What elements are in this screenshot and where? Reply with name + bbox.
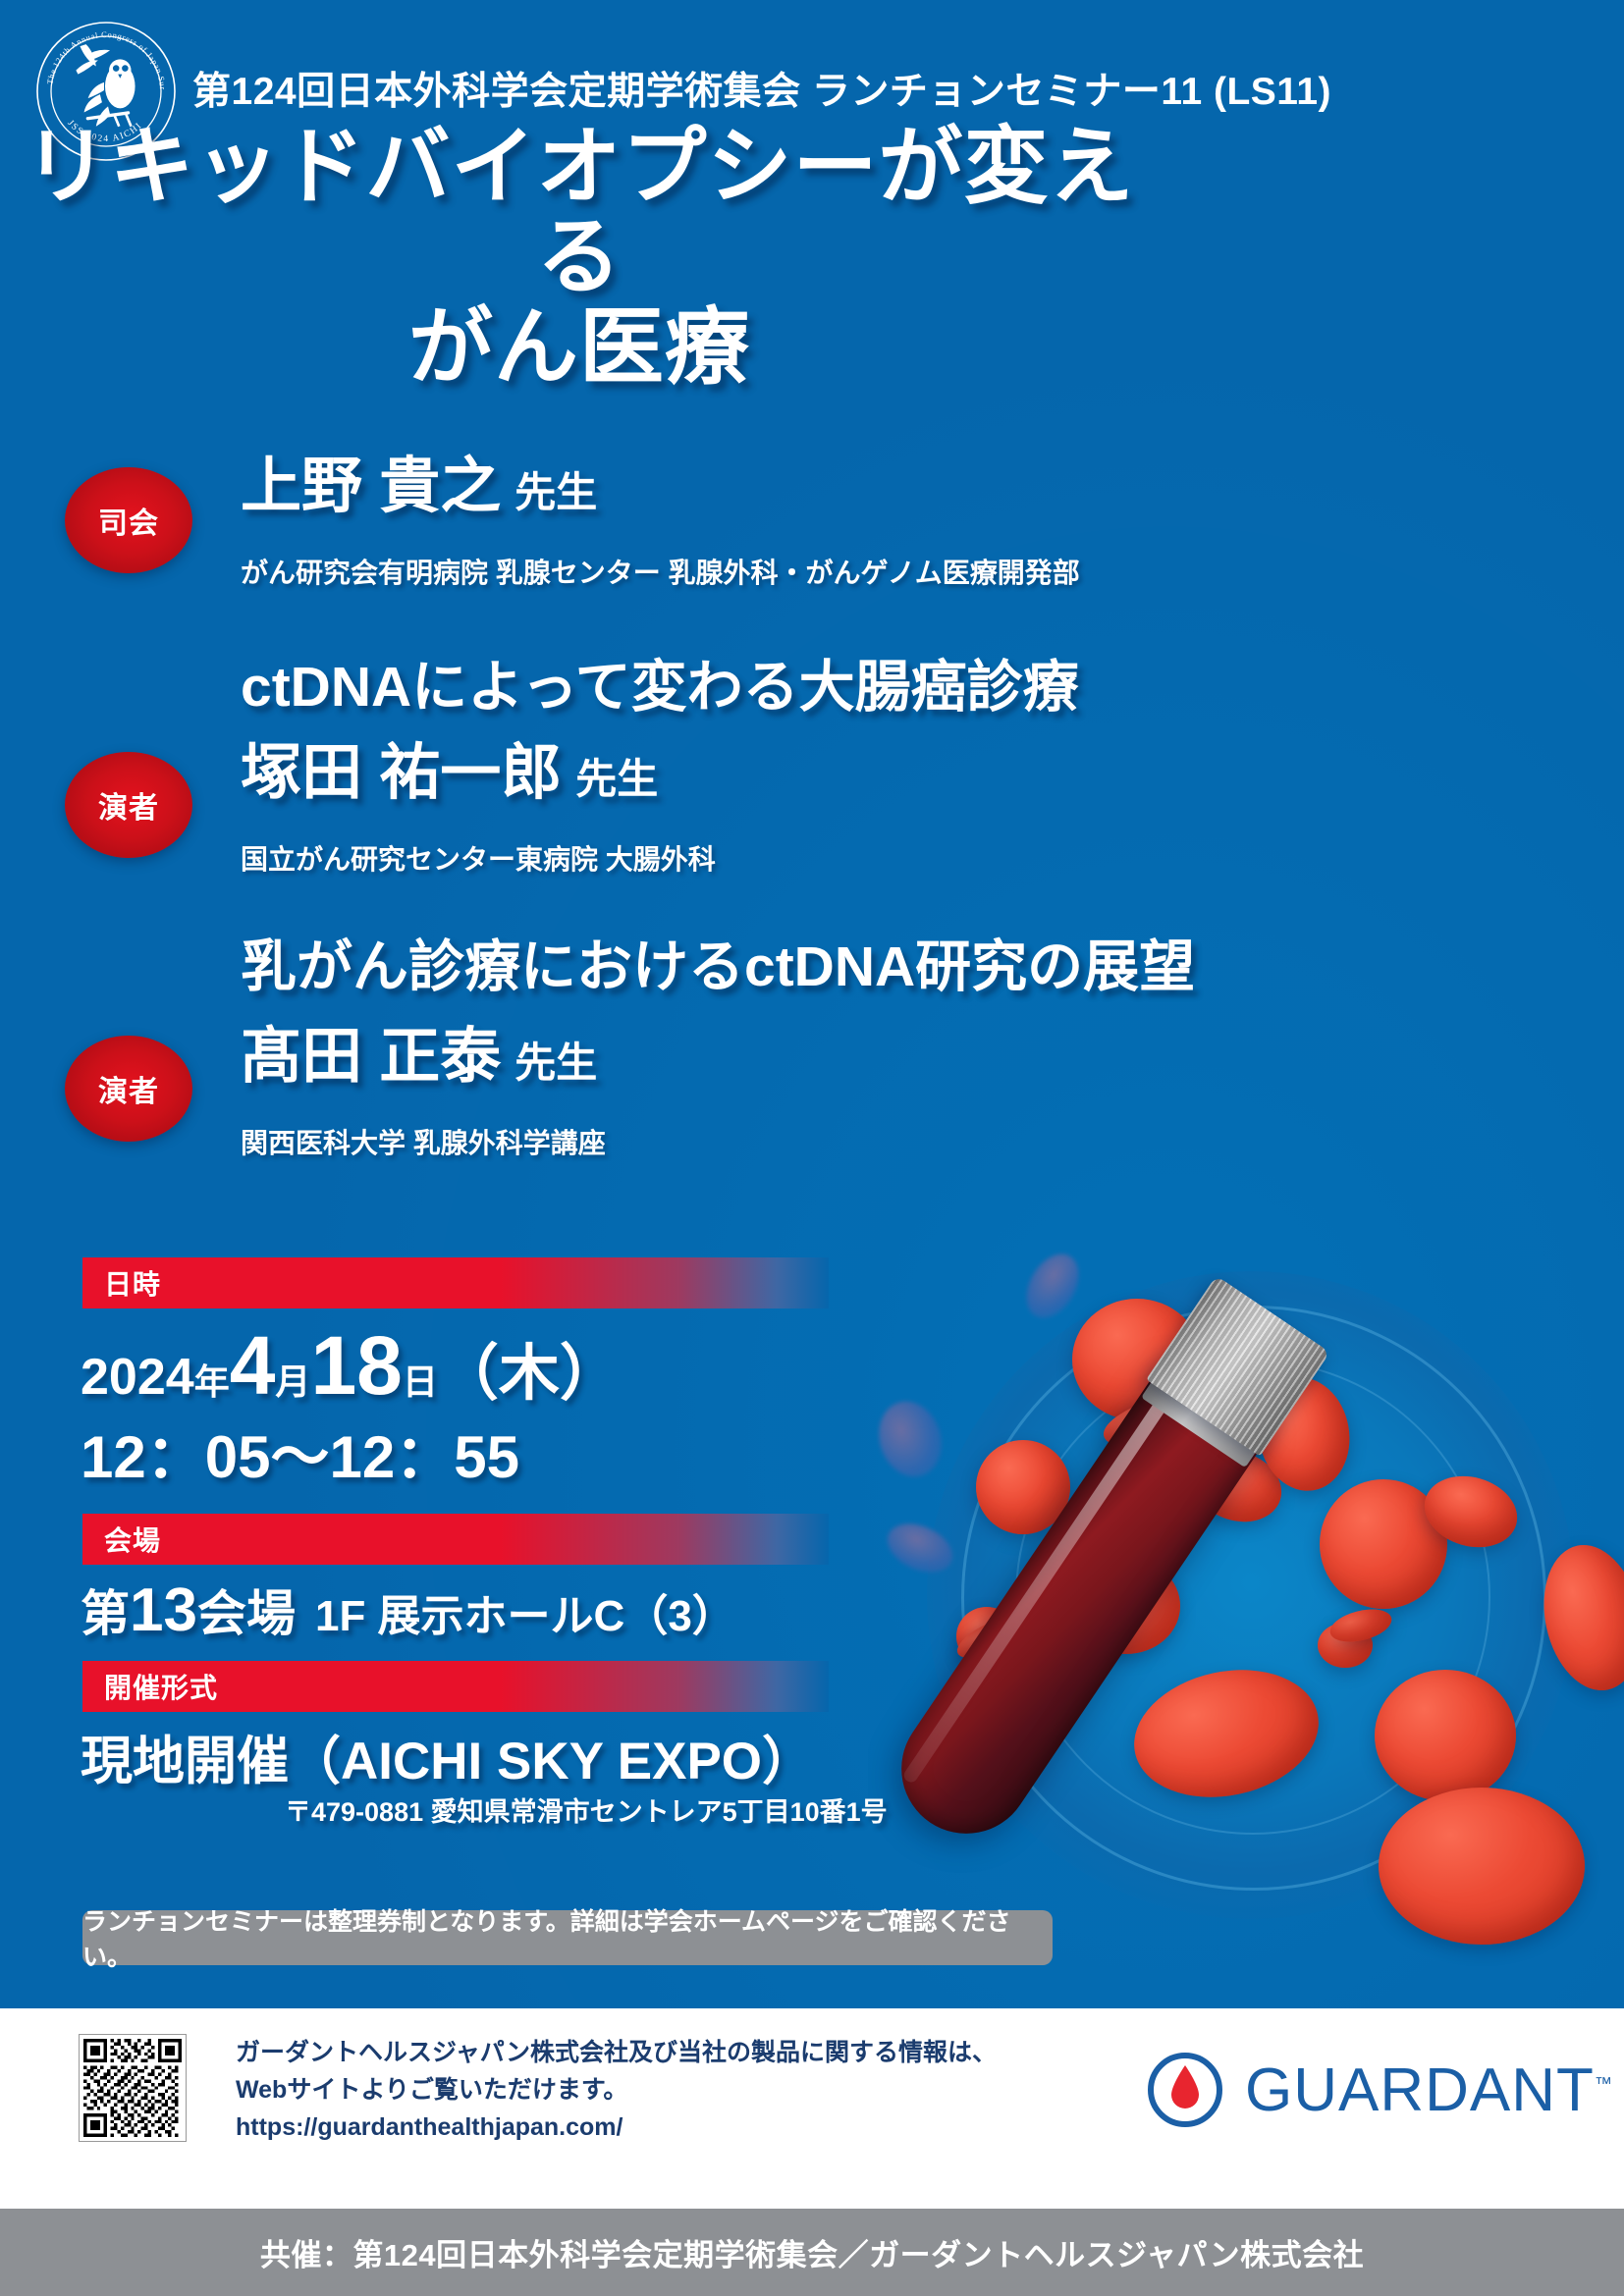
red-blood-cell <box>1375 1670 1516 1801</box>
guardant-wordmark-text: GUARDANT <box>1245 2056 1595 2124</box>
venue-hall-detail: 1F 展示ホールC（3） <box>315 1592 735 1640</box>
sponsor-url[interactable]: https://guardanthealthjapan.com/ <box>236 2109 997 2146</box>
venue-label: 会場 <box>82 1520 161 1559</box>
ticket-notice: ランチョンセミナーは整理券制となります。詳細は学会ホームページをご確認ください。 <box>82 1910 1053 1965</box>
chair-honorific: 先生 <box>514 469 597 515</box>
guardant-trademark: ™ <box>1595 2073 1613 2093</box>
sponsor-footer: ガーダントヘルスジャパン株式会社及び当社の製品に関する情報は、 Webサイトより… <box>0 2008 1624 2209</box>
event-time: 12：05～12：55 <box>81 1410 519 1495</box>
guardant-droplet-icon <box>1147 2052 1223 2128</box>
red-blood-cell <box>869 1393 950 1484</box>
cosponsor-text: 共催：第124回日本外科学会定期学術集会／ガーダントヘルスジャパン株式会社 <box>260 2230 1364 2274</box>
event-month: 4 <box>230 1319 276 1412</box>
blood-tube-artwork <box>868 1232 1624 1988</box>
venue-label-bar: 会場 <box>82 1514 829 1565</box>
speaker-2-name: 髙田 正泰先生 <box>241 1027 597 1088</box>
sponsor-info-line-1: ガーダントヘルスジャパン株式会社及び当社の製品に関する情報は、 <box>236 2034 997 2071</box>
main-title-line-1: リキッドバイオプシーが変える <box>0 122 1159 302</box>
page-title: リキッドバイオプシーが変える がん医療 <box>0 122 1159 393</box>
speaker-1-honorific: 先生 <box>575 756 658 802</box>
sponsor-info-line-2: Webサイトよりご覧いただけます。 <box>236 2071 997 2109</box>
event-day-unit: 日 <box>403 1362 438 1402</box>
sponsor-info-text: ガーダントヘルスジャパン株式会社及び当社の製品に関する情報は、 Webサイトより… <box>236 2034 997 2146</box>
event-month-unit: 月 <box>275 1362 310 1402</box>
speaker-2-affiliation: 関西医科大学 乳腺外科学講座 <box>241 1130 606 1157</box>
poster-root: The 124th Annual Congress of Japan Surgi… <box>0 0 1624 2296</box>
lecture-title-2: 乳がん診療におけるctDNA研究の展望 <box>241 937 1195 998</box>
speaker-1-name: 塚田 祐一郎先生 <box>241 743 658 804</box>
red-blood-cell <box>1016 1245 1090 1327</box>
chair-name: 上野 貴之先生 <box>241 456 597 517</box>
congress-kicker: 第124回日本外科学会定期学術集会 ランチョンセミナー11 (LS11) <box>192 73 1331 111</box>
event-year-unit: 年 <box>194 1362 230 1402</box>
speaker-2-honorific: 先生 <box>514 1040 597 1086</box>
guardant-wordmark: GUARDANT™ <box>1245 2056 1613 2125</box>
red-blood-cell <box>1379 1788 1585 1945</box>
chair-affiliation: がん研究会有明病院 乳腺センター 乳腺外科・がんゲノム医療開発部 <box>241 560 1080 587</box>
format-label-bar: 開催形式 <box>82 1661 829 1712</box>
venue-hall-number: 13 <box>130 1576 197 1644</box>
role-badge-speaker-2: 演者 <box>65 1036 192 1142</box>
event-weekday: （木） <box>438 1340 621 1408</box>
blue-main-panel: The 124th Annual Congress of Japan Surgi… <box>0 0 1624 2008</box>
event-date: 2024年4月18日（木） <box>81 1318 621 1414</box>
format-value: 現地開催（AICHI SKY EXPO） <box>81 1720 814 1794</box>
speaker-1-name-text: 塚田 祐一郎 <box>241 739 562 807</box>
format-label: 開催形式 <box>82 1667 218 1706</box>
venue-hall-prefix: 第 <box>81 1586 130 1641</box>
speaker-2-name-text: 髙田 正泰 <box>241 1023 501 1091</box>
guardant-logo: GUARDANT™ <box>1147 2052 1613 2128</box>
venue-hall-suffix: 会場 <box>197 1586 296 1641</box>
datetime-label-bar: 日時 <box>82 1257 829 1308</box>
event-year: 2024 <box>81 1349 194 1406</box>
datetime-label: 日時 <box>82 1263 161 1303</box>
cosponsor-bar: 共催：第124回日本外科学会定期学術集会／ガーダントヘルスジャパン株式会社 <box>0 2209 1624 2296</box>
event-day: 18 <box>310 1319 402 1412</box>
venue-address: 〒479-0881 愛知県常滑市セントレア5丁目10番1号 <box>285 1790 888 1829</box>
venue-value: 第13会場1F 展示ホールC（3） <box>81 1575 735 1645</box>
lecture-title-1: ctDNAによって変わる大腸癌診療 <box>241 658 1079 719</box>
role-badge-chair: 司会 <box>65 467 192 573</box>
qr-code[interactable] <box>79 2034 187 2142</box>
role-badge-speaker-1: 演者 <box>65 752 192 858</box>
main-title-line-2: がん医療 <box>0 302 1159 393</box>
speaker-1-affiliation: 国立がん研究センター東病院 大腸外科 <box>241 846 716 874</box>
chair-name-text: 上野 貴之 <box>241 453 501 520</box>
